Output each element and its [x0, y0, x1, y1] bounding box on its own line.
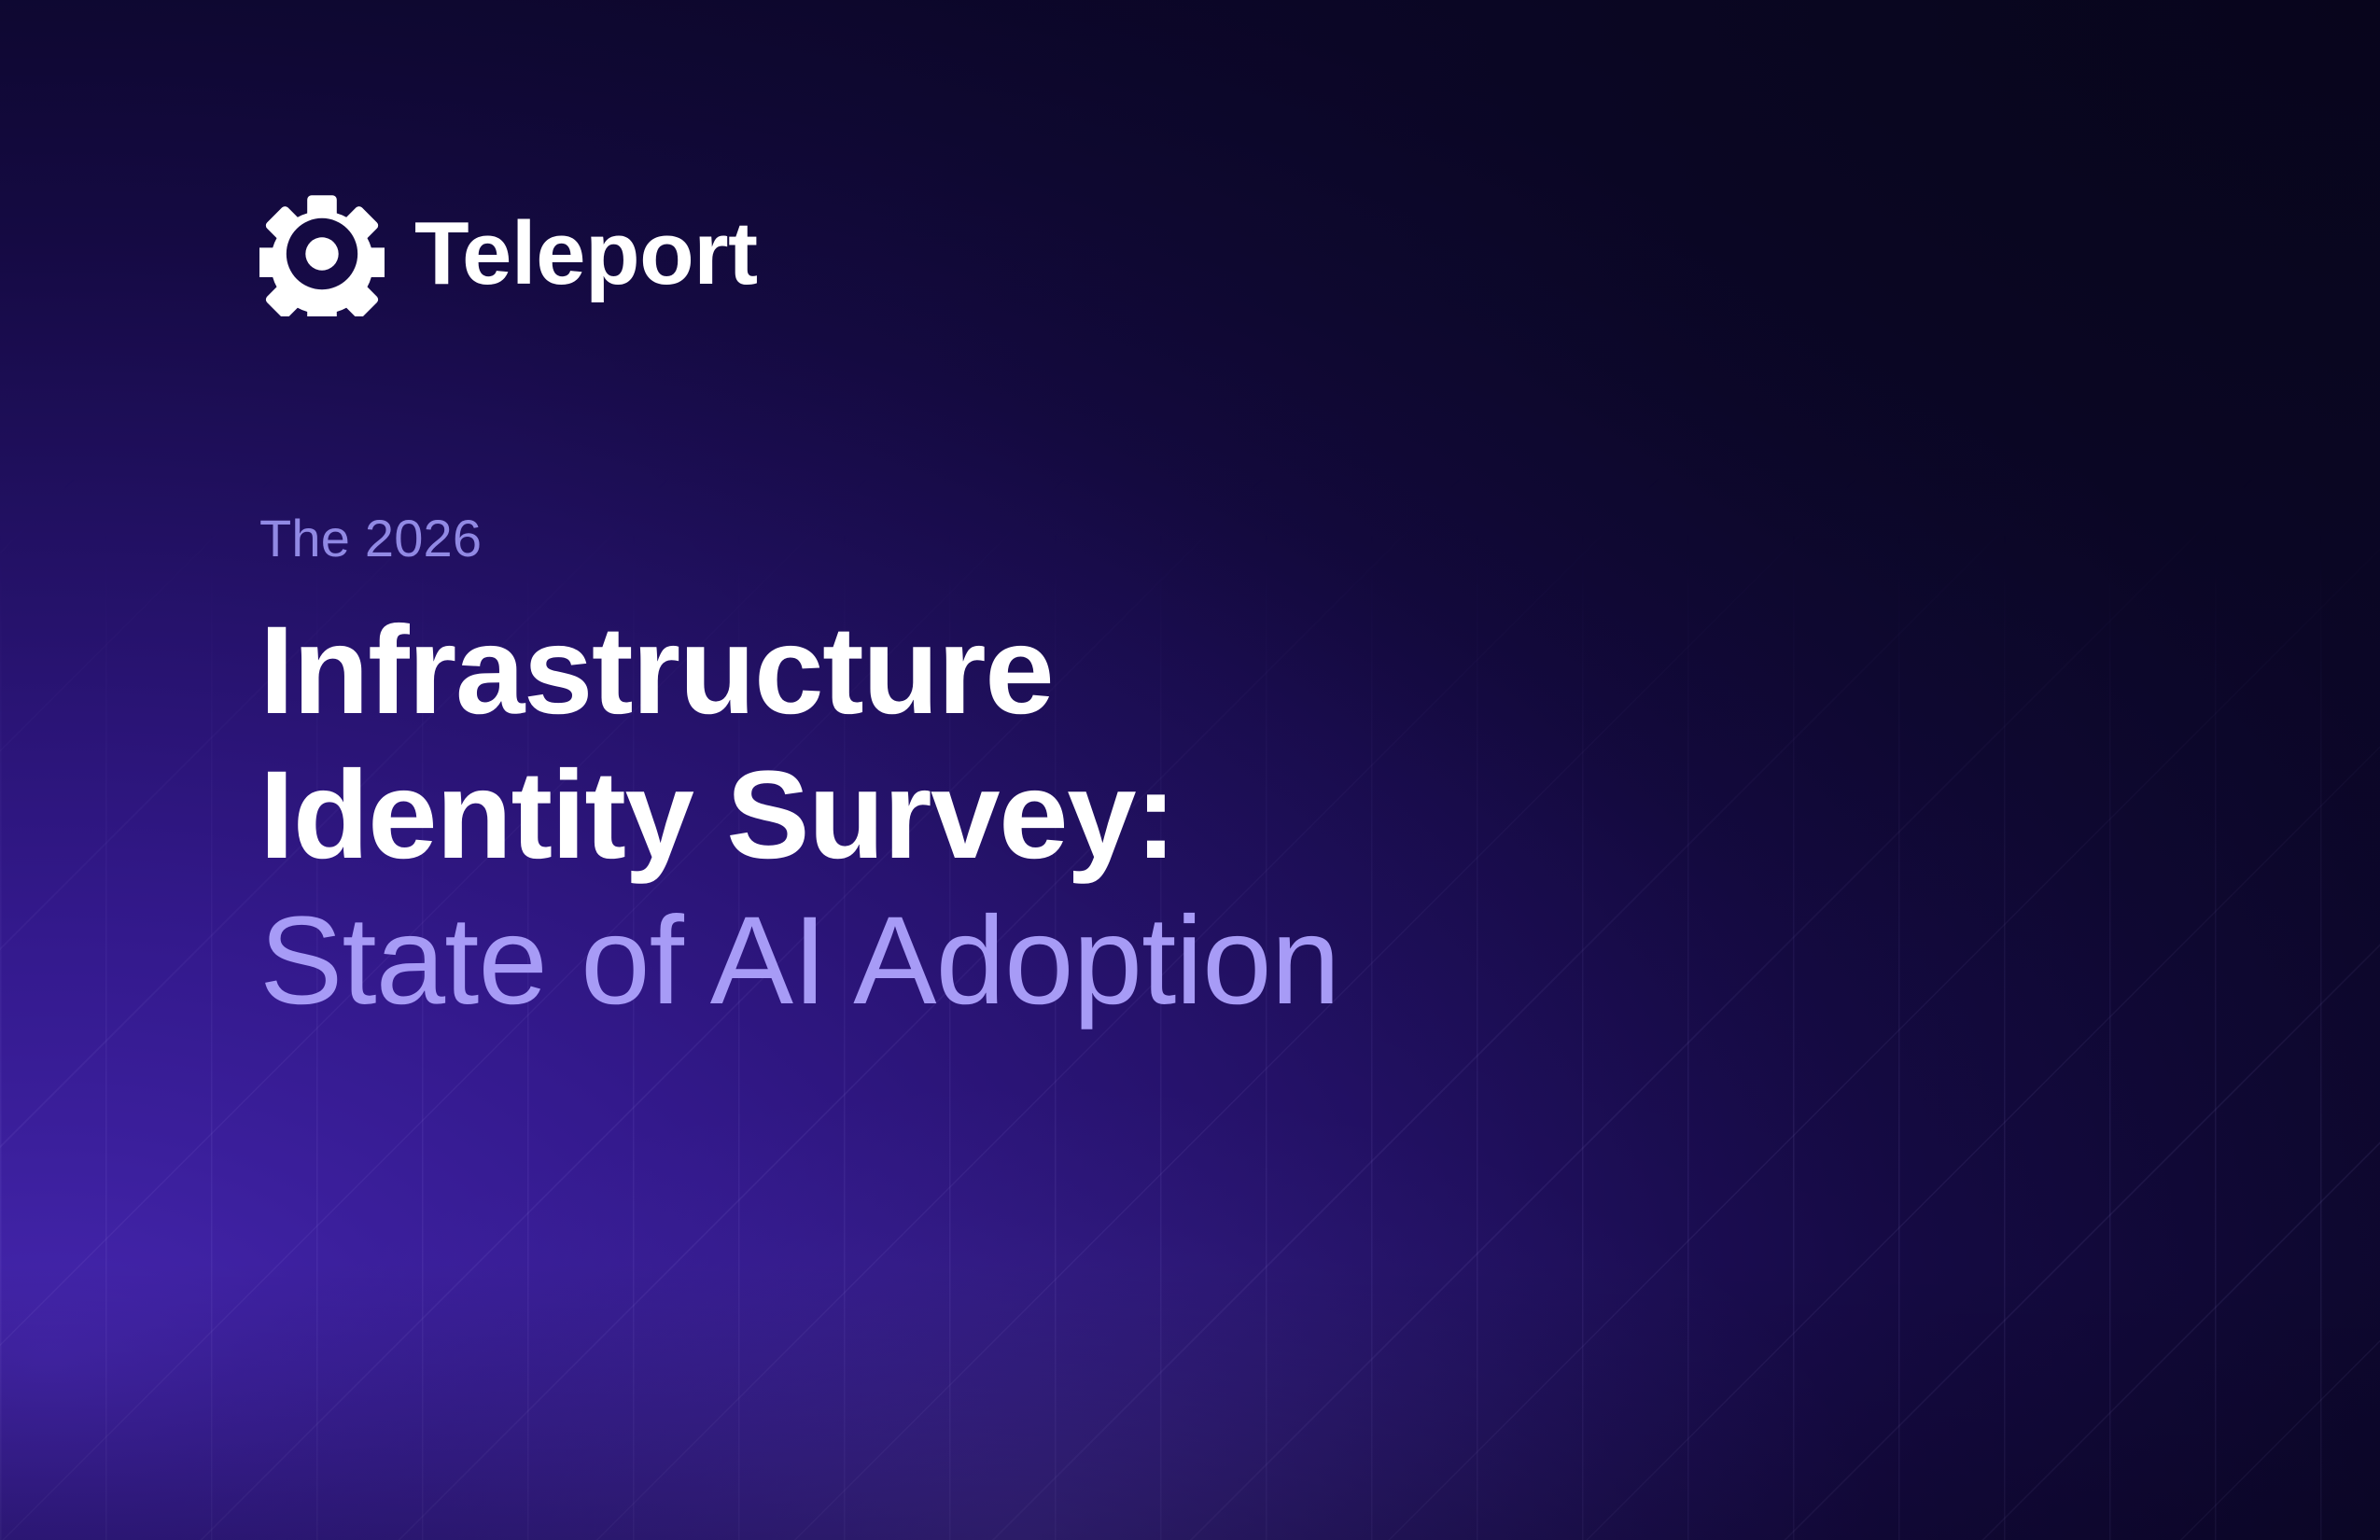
- teleport-wordmark: Teleport: [414, 209, 758, 299]
- page-title: Infrastructure Identity Survey: State of…: [259, 598, 1846, 1033]
- title-line-1: Infrastructure: [259, 598, 1846, 743]
- title-slide: Teleport The 2026 Infrastructure Identit…: [0, 0, 2380, 1540]
- hero-headline: The 2026 Infrastructure Identity Survey:…: [259, 511, 1846, 1033]
- teleport-logo[interactable]: Teleport: [259, 190, 758, 317]
- gear-icon: [259, 191, 385, 316]
- title-line-2: Identity Survey:: [259, 743, 1846, 888]
- hero-eyebrow: The 2026: [259, 511, 1846, 567]
- slide-content: Teleport The 2026 Infrastructure Identit…: [259, 0, 2033, 1540]
- title-line-3: State of AI Adoption: [259, 889, 1846, 1033]
